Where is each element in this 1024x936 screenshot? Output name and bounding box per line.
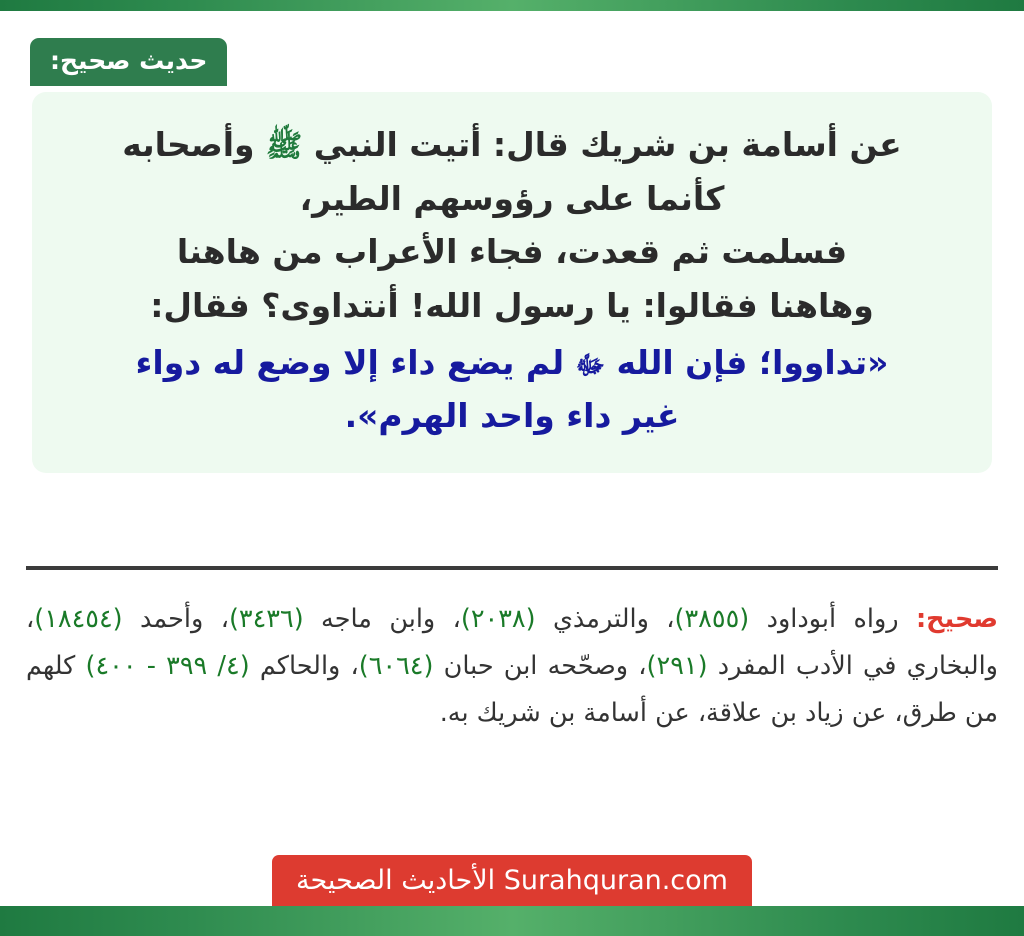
- takhrij-body: رواه أبوداود (٣٨٥٥)، والترمذي (٢٠٣٨)، وا…: [26, 604, 998, 728]
- takhrij-reference-11: (٦٠٦٤): [359, 651, 434, 681]
- salla-allahu-alayhi-wasallam-icon: ﷺ: [266, 129, 302, 164]
- takhrij-reference-13: (٤/ ٣٩٩ - ٤٠٠): [86, 651, 250, 681]
- hadith-text-card: عن أسامة بن شريك قال: أتيت النبي ﷺ وأصحا…: [32, 92, 992, 473]
- bottom-decorative-bar: [0, 906, 1024, 936]
- hadith-narration-text: عن أسامة بن شريك قال: أتيت النبي ﷺ وأصحا…: [66, 118, 958, 443]
- takhrij-text-0: رواه أبوداود: [749, 604, 916, 634]
- section-divider: [26, 566, 998, 570]
- brand-site-label: Surahquran.com: [504, 865, 728, 896]
- hadith-line-3: فسلمت ثم قعدت، فجاء الأعراب من هاهنا: [177, 232, 847, 271]
- takhrij-text-12: ، والحاكم: [250, 651, 359, 681]
- jalla-jalaluhu-icon: ﷻ: [576, 351, 605, 381]
- hadith-line-1: عن أسامة بن شريك قال: أتيت النبي ﷺ وأصحا…: [122, 125, 901, 164]
- takhrij-reference-5: (٣٤٣٦): [229, 604, 304, 634]
- takhrij-attribution: صحيح: رواه أبوداود (٣٨٥٥)، والترمذي (٢٠٣…: [26, 596, 998, 738]
- brand-arabic-label: الأحاديث الصحيحة: [296, 865, 495, 896]
- takhrij-grade-word: صحيح:: [916, 604, 998, 634]
- footer-brand-row: Surahquran.com الأحاديث الصحيحة: [0, 855, 1024, 908]
- takhrij-reference-9: (٢٩١): [647, 651, 708, 681]
- grade-badge-row: حديث صحيح:: [30, 38, 994, 86]
- takhrij-text-6: ، وأحمد: [123, 604, 229, 634]
- hadith-quote-line-1: «تداووا؛ فإن الله ﷻ لم يضع داء إلا وضع ل…: [136, 343, 889, 382]
- takhrij-reference-3: (٢٠٣٨): [461, 604, 536, 634]
- hadith-quote-text: «تداووا؛ فإن الله ﷻ لم يضع داء إلا وضع ل…: [66, 336, 958, 443]
- grade-badge: حديث صحيح:: [30, 38, 227, 86]
- takhrij-reference-7: (١٨٤٥٤): [34, 604, 122, 634]
- brand-badge[interactable]: Surahquran.com الأحاديث الصحيحة: [272, 855, 752, 908]
- hadith-card-page: حديث صحيح: عن أسامة بن شريك قال: أتيت ال…: [0, 0, 1024, 936]
- takhrij-text-4: ، وابن ماجه: [304, 604, 461, 634]
- takhrij-text-2: ، والترمذي: [536, 604, 675, 634]
- hadith-line-2: كأنما على رؤوسهم الطير،: [300, 179, 725, 218]
- takhrij-text-10: ، وصحّحه ابن حبان: [433, 651, 646, 681]
- hadith-line-4: وهاهنا فقالوا: يا رسول الله! أنتداوى؟ فق…: [150, 286, 874, 325]
- top-decorative-bar: [0, 0, 1024, 11]
- takhrij-reference-1: (٣٨٥٥): [675, 604, 750, 634]
- hadith-quote-line-2: غير داء واحد الهرم».: [345, 396, 680, 435]
